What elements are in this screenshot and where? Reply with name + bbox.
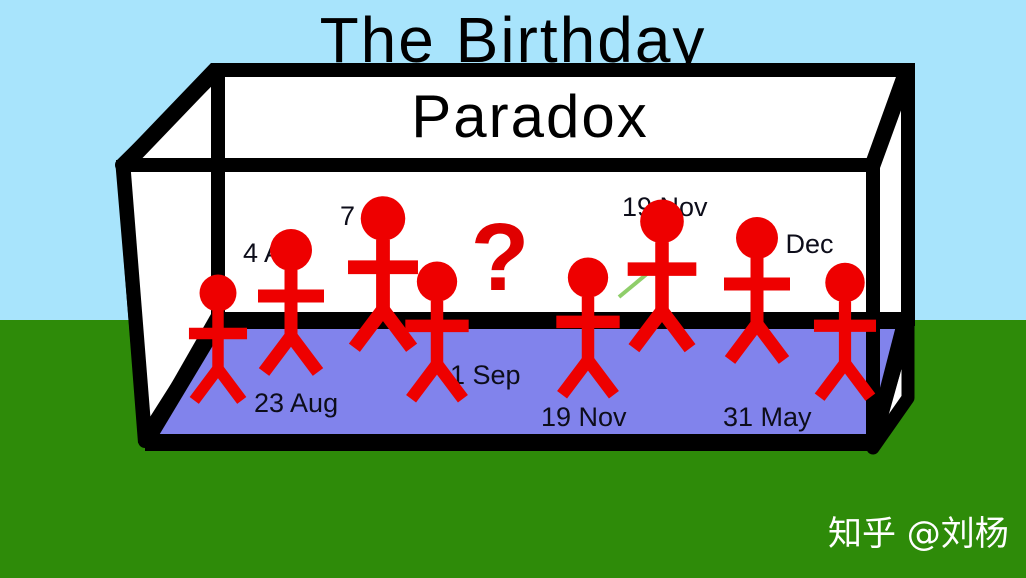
scene-svg: The Birthday [0, 0, 1026, 578]
box-edge-back-right [901, 68, 915, 326]
birthday-paradox-illustration: The Birthday [0, 0, 1026, 578]
title-line-2: Paradox [411, 83, 648, 150]
figure-head [200, 275, 237, 312]
box-edge-top-back [211, 63, 915, 77]
figure-head [361, 196, 406, 241]
box-edge-top-front [122, 158, 874, 172]
label-23-aug: 23 Aug [254, 388, 338, 418]
figure-head [417, 262, 457, 302]
label-31-may: 31 May [723, 402, 812, 432]
figure-head [640, 199, 684, 243]
question-mark: ? [471, 204, 530, 311]
watermark: 知乎 @刘杨 [828, 514, 1009, 554]
box-edge-front-bottom [145, 437, 873, 451]
figure-head [568, 258, 608, 298]
figure-head [825, 263, 864, 302]
label-19-nov-bottom: 19 Nov [541, 402, 627, 432]
figure-head [736, 217, 778, 259]
figure-head [270, 229, 312, 271]
